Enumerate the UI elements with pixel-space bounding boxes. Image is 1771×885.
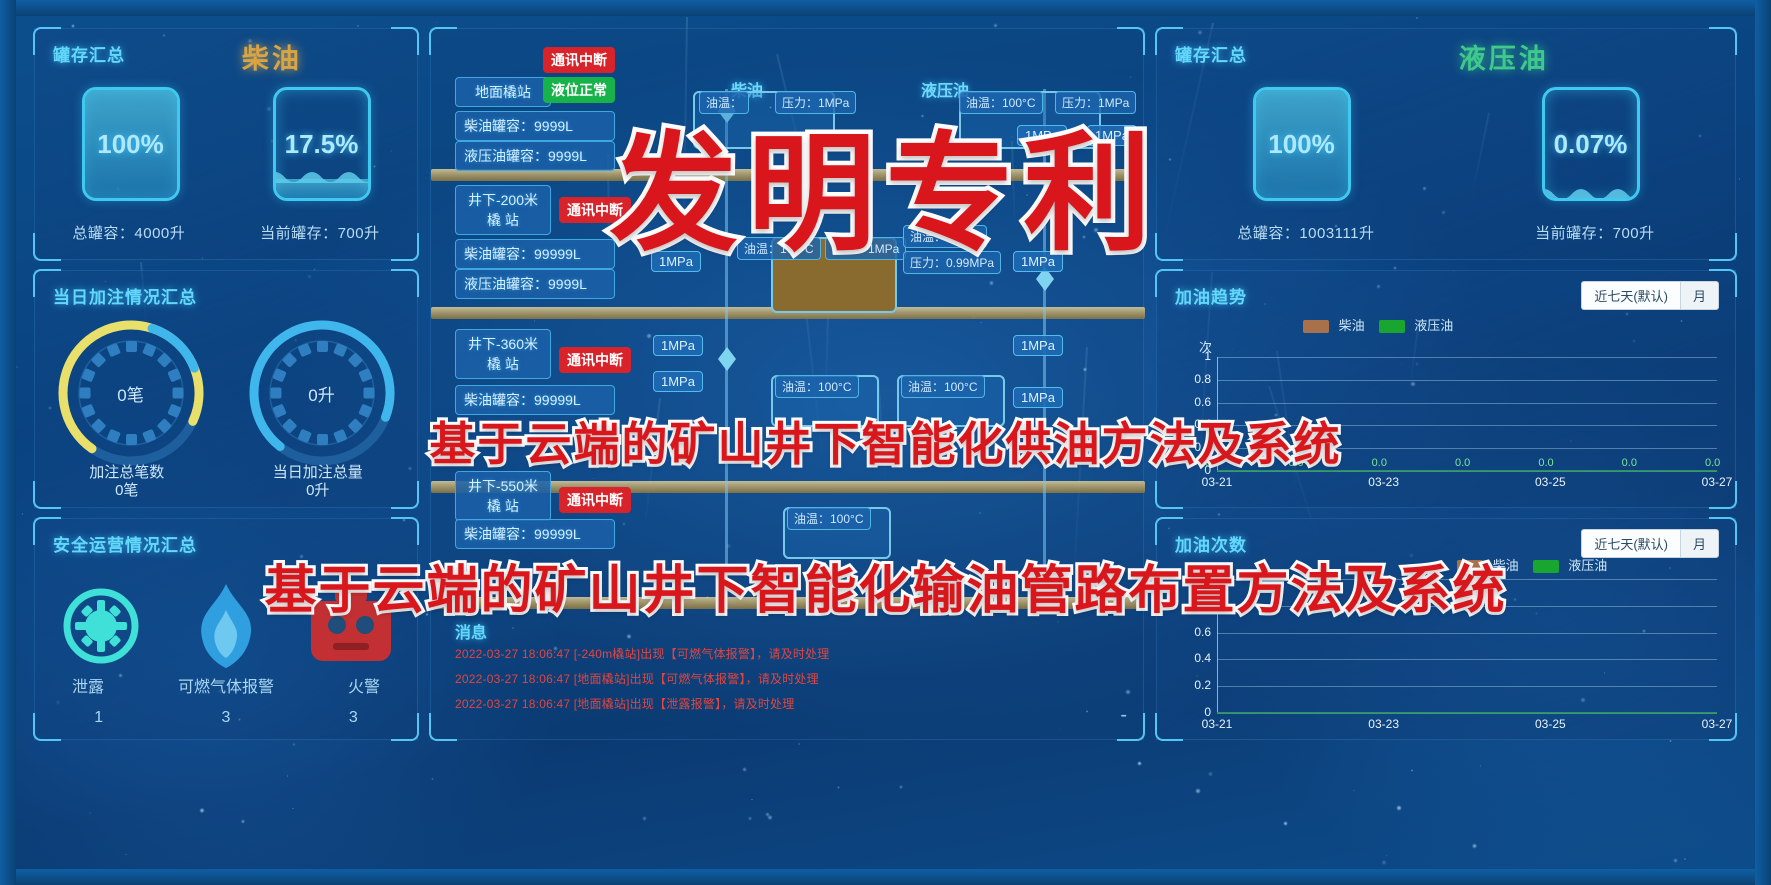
right-tank-summary-panel: 罐存汇总 液压油 100% 0.07% 总罐容：1003111升 当前罐存：70… <box>1156 28 1736 260</box>
star-particle <box>1208 771 1214 777</box>
safety-value-leak: 1 <box>94 709 103 727</box>
star-particle <box>742 767 747 772</box>
sensor-chip: 油温：100°C <box>775 375 859 398</box>
star-particle <box>431 778 433 780</box>
legend-label-hydraulic: 液压油 <box>1568 558 1607 573</box>
dashboard-root: 罐存汇总 柴油 100% 17.5% 总罐容：4000升 当前罐存：700升 当… <box>0 0 1771 885</box>
gauge-value: 0升 <box>248 319 396 467</box>
range-tab-week[interactable]: 近七天(默认) <box>1582 530 1681 557</box>
y-axis-tick-label: 0.8 <box>1171 372 1211 386</box>
station-status-comm-550m: 通讯中断 <box>559 487 631 513</box>
panel-title: 罐存汇总 <box>1175 41 1247 66</box>
station-label-360m: 井下-360米 橇 站 <box>455 329 551 379</box>
leak-icon <box>55 580 147 677</box>
count-range-selector[interactable]: 近七天(默认) 月 <box>1581 529 1719 558</box>
pressure-tag: 1MPa <box>653 371 703 392</box>
star-particle <box>798 743 800 745</box>
star-particle <box>1480 765 1481 766</box>
window-frame-top <box>0 0 1771 16</box>
refuel-count-gauge: 0笔 <box>57 319 205 467</box>
star-particle <box>16 366 18 368</box>
star-particle <box>436 22 438 24</box>
legend-label-diesel: 柴油 <box>1339 318 1365 333</box>
panel-title: 当日加注情况汇总 <box>53 283 197 308</box>
star-particle <box>1381 860 1387 866</box>
legend-item-hydraulic: 液压油 <box>1533 555 1608 574</box>
tank-percent-label: 100% <box>85 90 177 198</box>
flammable-gas-alarm-icon <box>186 580 266 677</box>
star-particle <box>89 812 91 814</box>
oil-type-label: 柴油 <box>242 37 302 76</box>
star-particle <box>287 775 288 776</box>
range-tab-month[interactable]: 月 <box>1681 282 1718 309</box>
station-status-level-ground: 液位正常 <box>543 77 615 103</box>
star-particle <box>1195 788 1201 794</box>
legend-item-hydraulic: 液压油 <box>1379 315 1454 334</box>
star-particle <box>1673 858 1678 863</box>
diesel-current-stock-tank: 17.5% <box>273 87 371 201</box>
legend-swatch-diesel <box>1303 320 1329 333</box>
station-hydraulic-capacity-ground: 液压油罐容：9999L <box>455 141 615 171</box>
daily-refuel-summary-panel: 当日加注情况汇总 0笔 0升 <box>34 270 418 508</box>
range-tab-month[interactable]: 月 <box>1681 530 1718 557</box>
star-particle <box>1684 858 1685 859</box>
panel-title: 加油趋势 <box>1175 283 1247 308</box>
star-particle <box>1283 821 1288 826</box>
star-particle <box>1739 178 1740 179</box>
safety-value-fire: 3 <box>349 709 358 727</box>
station-diesel-capacity-200m: 柴油罐容：99999L <box>455 239 615 269</box>
station-label-ground: 地面橇站 <box>455 77 551 107</box>
star-particle <box>767 815 773 821</box>
x-axis-tick-label: 03-25 <box>1526 475 1574 489</box>
zoom-out-button[interactable]: - <box>1120 704 1127 727</box>
refuel-volume-gauge: 0升 <box>248 319 396 467</box>
star-particle <box>765 812 770 817</box>
trend-range-selector[interactable]: 近七天(默认) 月 <box>1581 281 1719 310</box>
legend-label-hydraulic: 液压油 <box>1414 318 1453 333</box>
current-stock-text: 当前罐存：700升 <box>1535 222 1655 243</box>
star-particle <box>899 785 903 789</box>
legend-swatch-hydraulic <box>1379 320 1405 333</box>
watermark-line-2: 基于云端的矿山井下智能化输油管路布置方法及系统 <box>264 548 1506 623</box>
star-particle <box>292 808 293 809</box>
sensor-chip: 油温：100°C <box>901 375 985 398</box>
station-status-comm-ground: 通讯中断 <box>543 47 615 73</box>
tank-percent-label: 100% <box>1256 90 1348 198</box>
panel-title: 罐存汇总 <box>53 41 125 66</box>
star-particle <box>1386 855 1387 856</box>
star-particle <box>1416 17 1418 19</box>
safety-label-fire: 火警 <box>348 673 380 697</box>
star-particle <box>1472 843 1477 848</box>
station-label-200m: 井下-200米 橇 站 <box>455 185 551 235</box>
star-particle <box>1411 769 1414 772</box>
gauge-caption-value: 0升 <box>273 482 363 501</box>
star-particle <box>1669 740 1671 742</box>
star-particle <box>199 808 204 813</box>
x-axis-tick-label: 03-25 <box>1526 717 1574 731</box>
total-capacity-text: 总罐容：4000升 <box>72 222 185 243</box>
y-axis-tick-label: 0.6 <box>1171 625 1211 639</box>
star-particle <box>1137 761 1142 766</box>
star-particle <box>125 854 126 855</box>
panel-title: 安全运营情况汇总 <box>53 531 197 556</box>
x-axis-tick-label: 03-21 <box>1193 717 1241 731</box>
sensor-chip: 油温：100°C <box>787 507 871 530</box>
star-particle <box>1396 805 1402 811</box>
star-particle <box>22 513 23 514</box>
star-particle <box>837 786 840 789</box>
star-particle <box>357 25 358 26</box>
x-axis-tick-label: 03-23 <box>1360 717 1408 731</box>
tank-percent-label: 0.07% <box>1545 90 1637 198</box>
message-log-panel: 消息 2022-03-27 18:06:47 [-240m橇站]出现【可燃气体报… <box>439 609 1135 729</box>
star-particle <box>748 816 753 821</box>
hydraulic-current-stock-tank: 0.07% <box>1542 87 1640 201</box>
window-frame-left <box>0 0 16 885</box>
star-particle <box>751 799 752 800</box>
x-axis-tick-label: 03-27 <box>1693 475 1741 489</box>
station-label-550m: 井下-550米 橇 站 <box>455 471 551 521</box>
safety-label-leak: 泄露 <box>72 673 104 697</box>
pressure-tag: 1MPa <box>1013 335 1063 356</box>
safety-label-gas: 可燃气体报警 <box>178 673 274 697</box>
diesel-total-capacity-tank: 100% <box>82 87 180 201</box>
x-axis-tick-label: 03-23 <box>1360 475 1408 489</box>
y-axis-tick-label: 0.2 <box>1171 678 1211 692</box>
legend-item-diesel: 柴油 <box>1303 315 1365 334</box>
total-capacity-text: 总罐容：1003111升 <box>1237 222 1374 243</box>
gauge-caption-value: 0笔 <box>89 482 164 501</box>
list-item: 2022-03-27 18:06:47 [地面橇站]出现【可燃气体报警】，请及时… <box>455 670 1123 687</box>
list-item: 2022-03-27 18:06:47 [-240m橇站]出现【可燃气体报警】，… <box>455 645 1123 662</box>
star-particle <box>1353 790 1354 791</box>
station-diesel-capacity-ground: 柴油罐容：9999L <box>455 111 615 141</box>
trend-legend: 柴油 液压油 <box>1303 315 1453 334</box>
station-status-comm-360m: 通讯中断 <box>559 347 631 373</box>
gauge-caption: 加注总笔数 <box>89 464 164 483</box>
legend-swatch-hydraulic <box>1533 560 1559 573</box>
star-particle <box>292 743 295 746</box>
gauge-caption: 当日加注总量 <box>273 464 363 483</box>
window-frame-right <box>1755 0 1771 885</box>
station-diesel-capacity-550m: 柴油罐容：99999L <box>455 519 615 549</box>
y-axis-tick-label: 1 <box>1171 349 1211 363</box>
star-particle <box>241 819 245 823</box>
message-list[interactable]: 2022-03-27 18:06:47 [-240m橇站]出现【可燃气体报警】，… <box>455 645 1123 720</box>
current-stock-text: 当前罐存：700升 <box>260 222 380 243</box>
station-hydraulic-capacity-200m: 液压油罐容：9999L <box>455 269 615 299</box>
oil-type-label: 液压油 <box>1459 37 1549 76</box>
pressure-tag: 1MPa <box>653 335 703 356</box>
grid-line <box>1217 713 1717 714</box>
tank-percent-label: 17.5% <box>276 90 368 198</box>
range-tab-week[interactable]: 近七天(默认) <box>1582 282 1681 309</box>
x-axis-tick-label: 03-21 <box>1193 475 1241 489</box>
x-axis-tick-label: 03-27 <box>1693 717 1741 731</box>
window-frame-bottom <box>0 869 1771 885</box>
y-axis-tick-label: 0.4 <box>1171 651 1211 665</box>
safety-value-gas: 3 <box>222 709 231 727</box>
left-tank-summary-panel: 罐存汇总 柴油 100% 17.5% 总罐容：4000升 当前罐存：700升 <box>34 28 418 260</box>
star-particle <box>642 816 647 821</box>
watermark-line-1: 基于云端的矿山井下智能化供油方法及系统 <box>430 408 1342 474</box>
pressure-tag: 1MPa <box>1013 387 1063 408</box>
gauge-value: 0笔 <box>57 319 205 467</box>
y-axis-tick-label: 0.6 <box>1171 395 1211 409</box>
hydraulic-total-capacity-tank: 100% <box>1253 87 1351 201</box>
list-item: 2022-03-27 18:06:47 [地面橇站]出现【泄露报警】，请及时处理 <box>455 695 1123 712</box>
star-particle <box>1217 513 1220 516</box>
watermark-title: 发明专利 <box>609 90 1161 275</box>
